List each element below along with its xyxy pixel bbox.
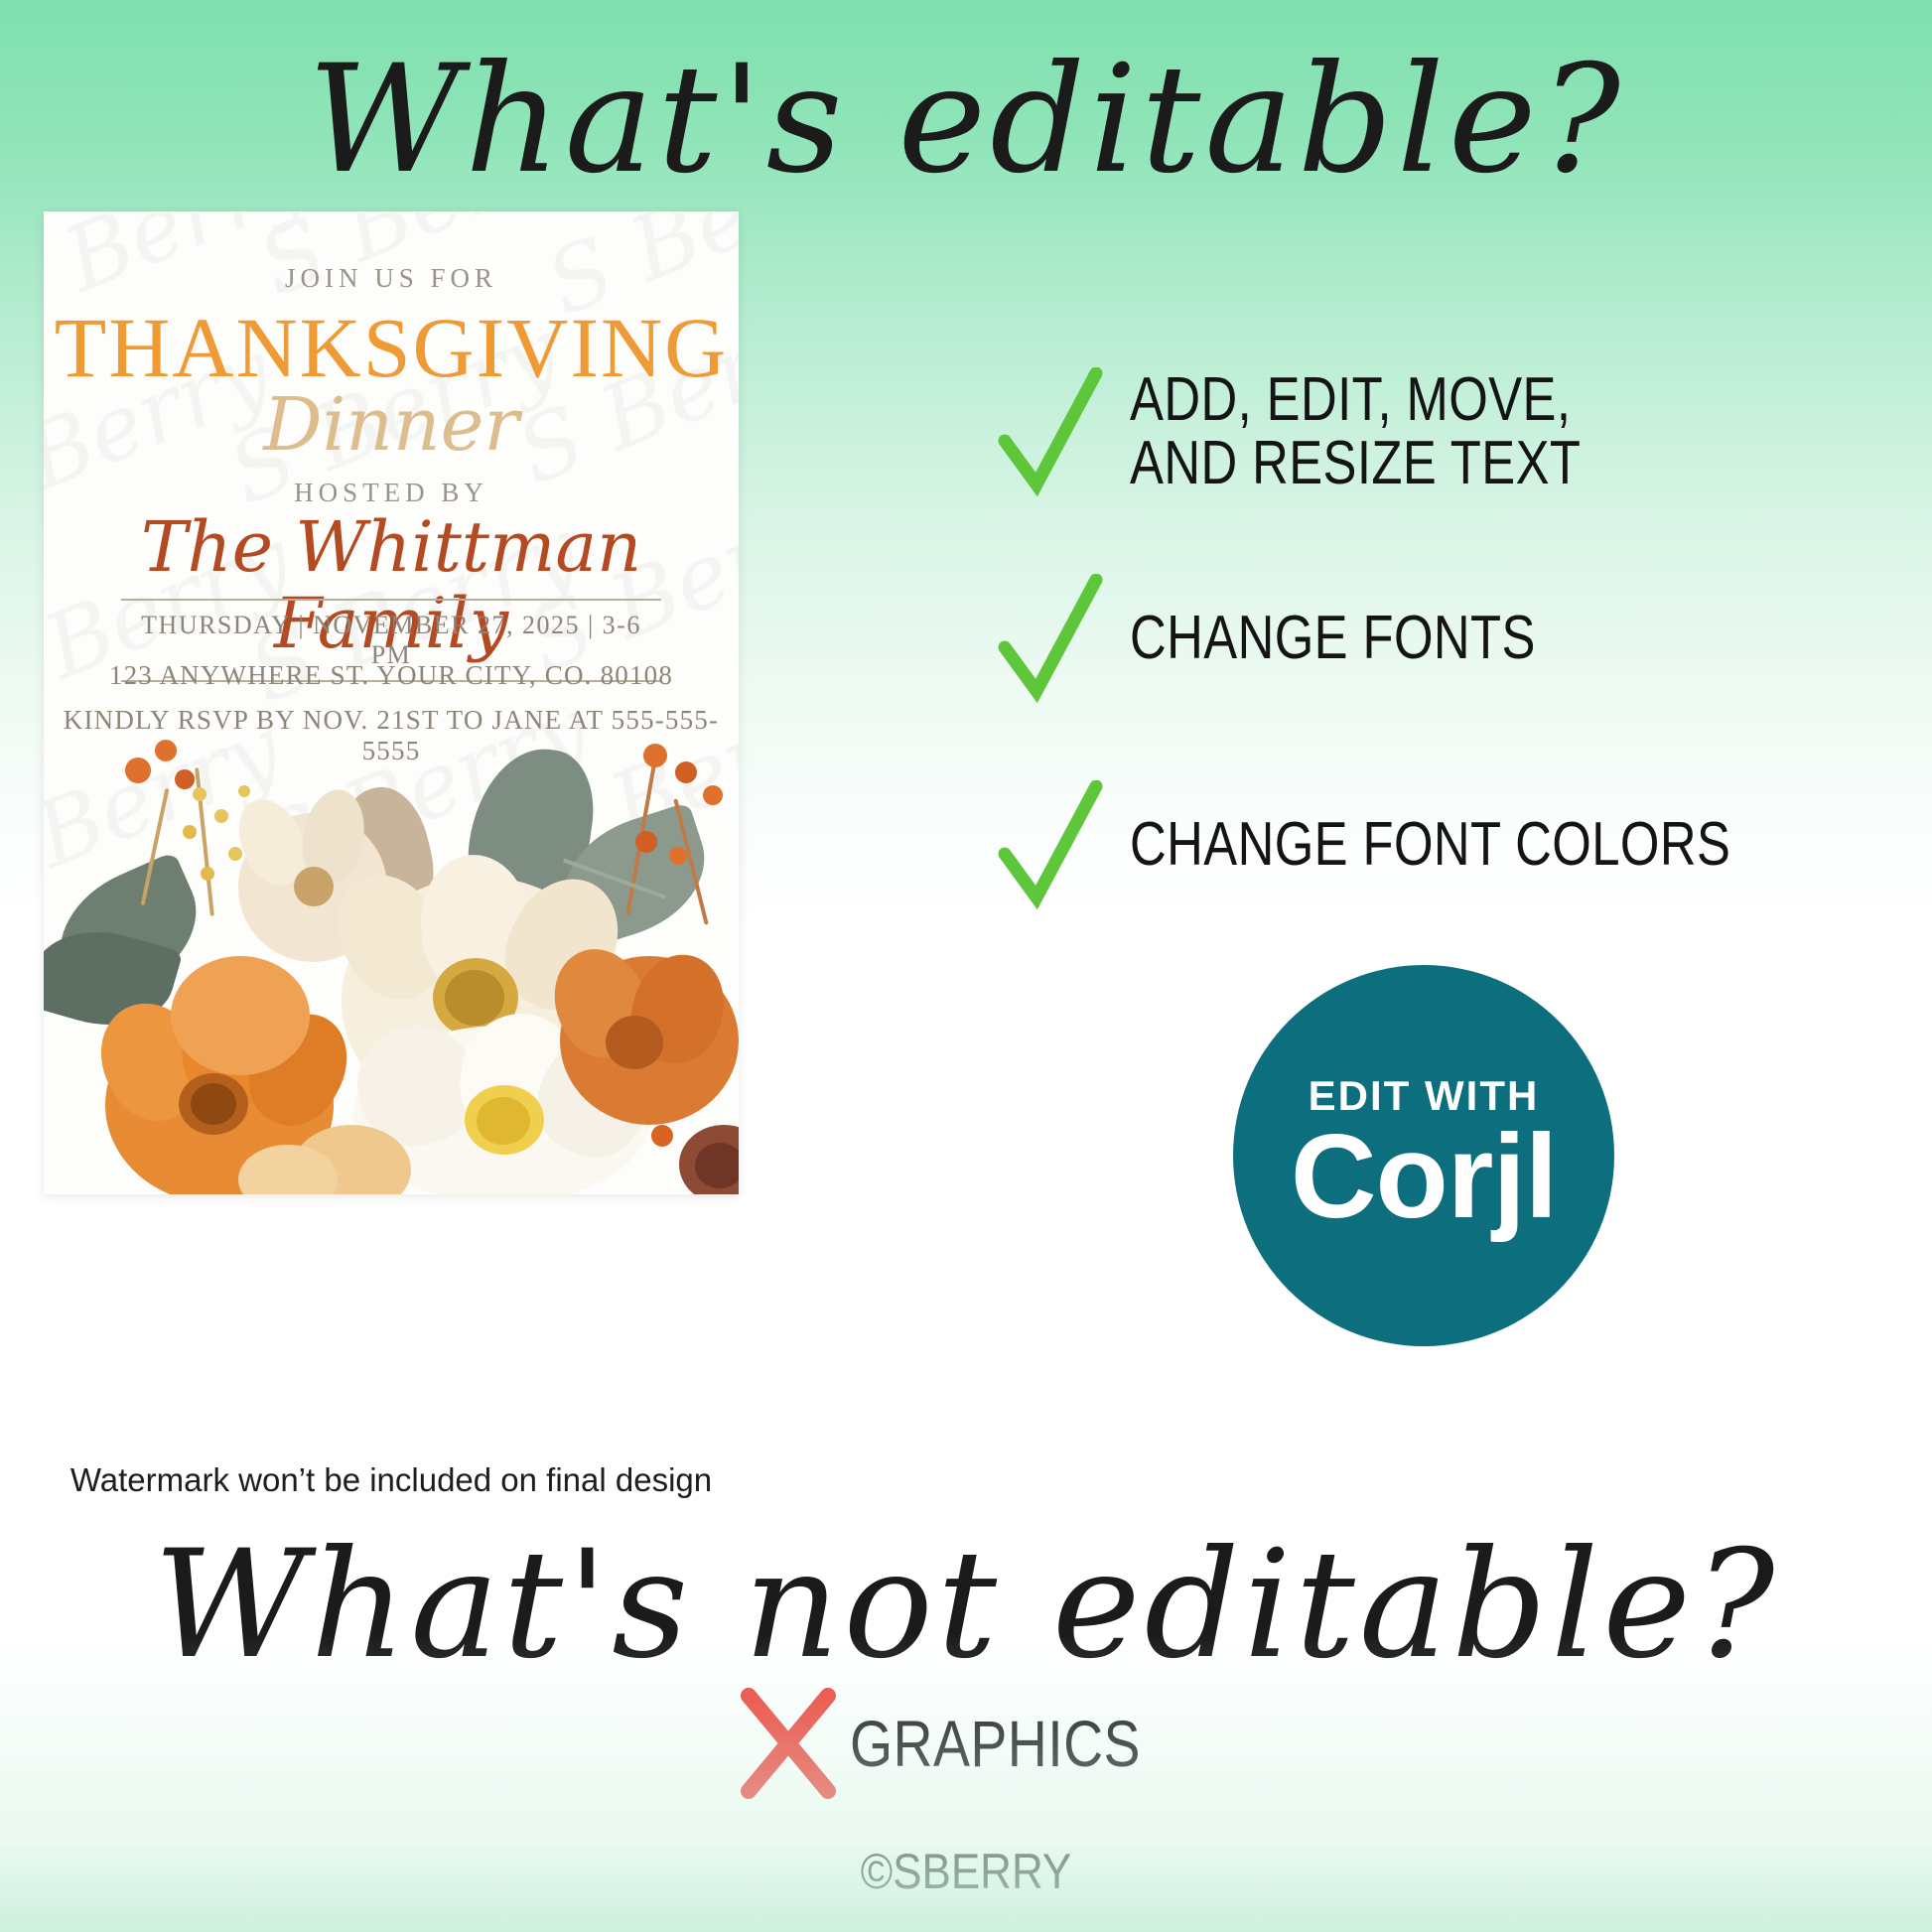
green-check-icon: [993, 780, 1112, 909]
poster-background: What's editable? S Berry S Berry S Berry…: [0, 0, 1932, 1932]
green-check-icon: [993, 574, 1112, 703]
feature-item: ADD, EDIT, MOVE, AND RESIZE TEXT: [993, 367, 1906, 496]
feature-label: CHANGE FONT COLORS: [1130, 813, 1730, 877]
badge-brand-name: Corjl: [1291, 1114, 1557, 1239]
card-address-line: 123 ANYWHERE ST. YOUR CITY, CO. 80108: [44, 660, 739, 691]
page-title-not-editable: What's not editable?: [0, 1519, 1932, 1692]
edit-with-corjl-badge[interactable]: EDIT WITH Corjl: [1233, 965, 1614, 1346]
feature-item: CHANGE FONTS: [993, 574, 1906, 703]
invitation-card-preview[interactable]: S Berry S Berry S Berry S Berry S Berry …: [44, 211, 739, 1194]
card-event-title: THANKSGIVING: [44, 305, 739, 390]
card-join-line: JOIN US FOR: [44, 263, 739, 294]
card-rsvp-line: KINDLY RSVP BY NOV. 21ST TO JANE AT 555-…: [44, 705, 739, 766]
editable-features-list: ADD, EDIT, MOVE, AND RESIZE TEXT CHANGE …: [993, 367, 1906, 987]
card-event-subtitle: Dinner: [44, 388, 739, 462]
green-check-icon: [993, 367, 1112, 496]
card-hosted-label: HOSTED BY: [44, 478, 739, 508]
feature-label: ADD, EDIT, MOVE, AND RESIZE TEXT: [1130, 368, 1581, 496]
page-title-editable: What's editable?: [0, 34, 1932, 207]
watermark-disclaimer: Watermark won’t be included on final des…: [44, 1461, 739, 1499]
feature-label: CHANGE FONTS: [1130, 607, 1536, 670]
floral-artwork: [44, 728, 739, 1194]
not-editable-label: GRAPHICS: [850, 1706, 1141, 1781]
feature-item: CHANGE FONT COLORS: [993, 780, 1906, 909]
red-x-icon: [737, 1688, 840, 1799]
copyright-text: ©SBERRY: [116, 1843, 1816, 1900]
not-editable-item: GRAPHICS: [0, 1688, 1932, 1799]
